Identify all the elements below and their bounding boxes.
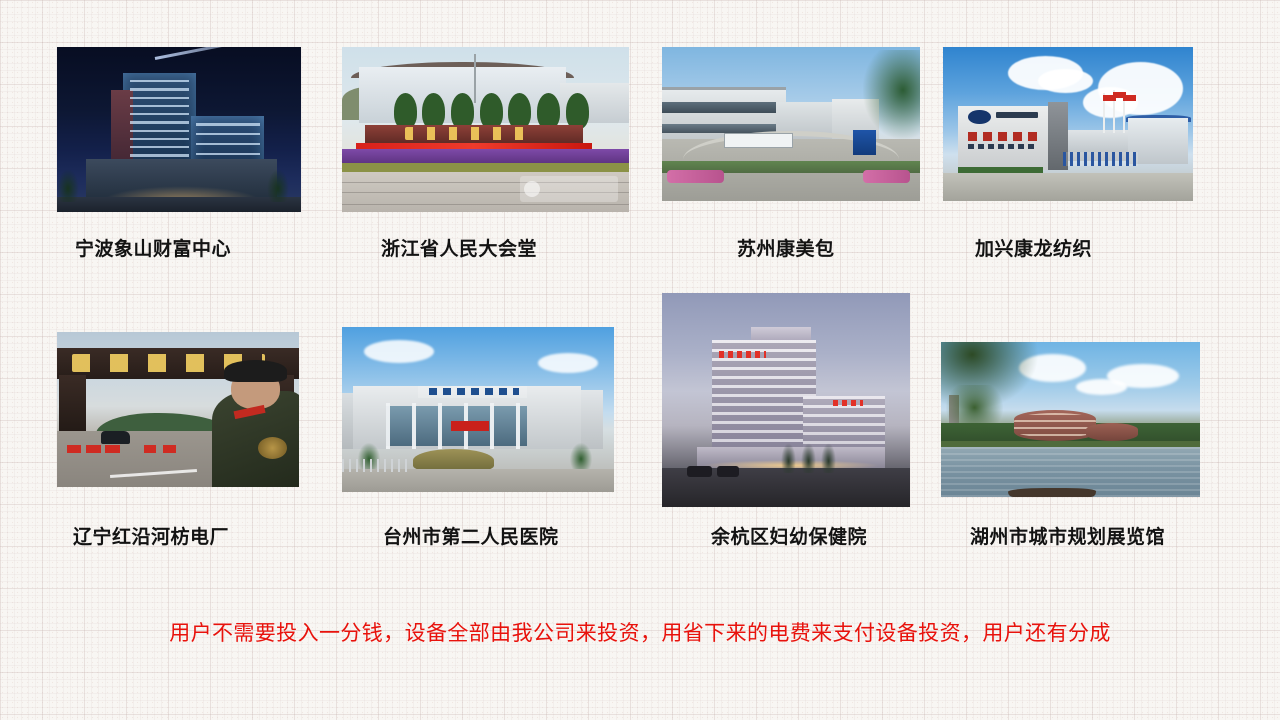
jiaxing-conedenim-textile-photo[interactable] [943,47,1193,201]
zhejiang-great-hall-of-the-people-photo[interactable] [342,47,629,212]
project-caption: 苏州康美包 [737,238,835,262]
project-caption: 宁波象山财富中心 [75,238,231,262]
taizhou-second-peoples-hospital-photo[interactable] [342,327,614,492]
project-caption: 余杭区妇幼保健院 [711,526,867,550]
huzhou-urban-planning-exhibition-hall-photo[interactable] [941,342,1200,497]
project-caption: 浙江省人民大会堂 [381,238,537,262]
liaoning-hongyanhe-nuclear-plant-photo[interactable] [57,332,299,487]
project-caption: 辽宁红沿河枋电厂 [73,526,229,550]
project-caption: 湖州市城市规划展览馆 [970,526,1165,550]
project-gallery: 宁波象山财富中心 [0,0,1280,720]
ningbo-xiangshan-wealth-center-photo[interactable] [57,47,301,212]
suzhou-sig-combibloc-photo[interactable] [662,47,920,201]
project-caption: 台州市第二人民医院 [383,526,559,550]
project-caption: 加兴康龙纺织 [975,238,1092,262]
tagline-text: 用户不需要投入一分钱，设备全部由我公司来投资，用省下来的电费来支付设备投资，用户… [0,618,1280,648]
yuhang-maternal-child-health-hospital-photo[interactable] [662,293,910,507]
